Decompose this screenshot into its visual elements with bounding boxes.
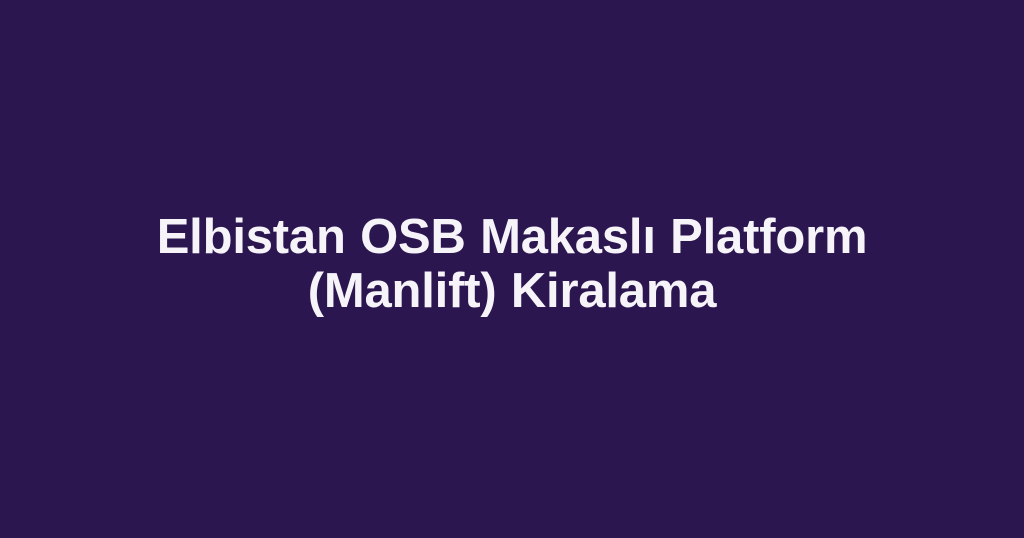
title-block: Elbistan OSB Makaslı Platform (Manlift) … [82,210,942,318]
page-title: Elbistan OSB Makaslı Platform (Manlift) … [106,210,918,318]
share-card: Elbistan OSB Makaslı Platform (Manlift) … [0,0,1024,538]
